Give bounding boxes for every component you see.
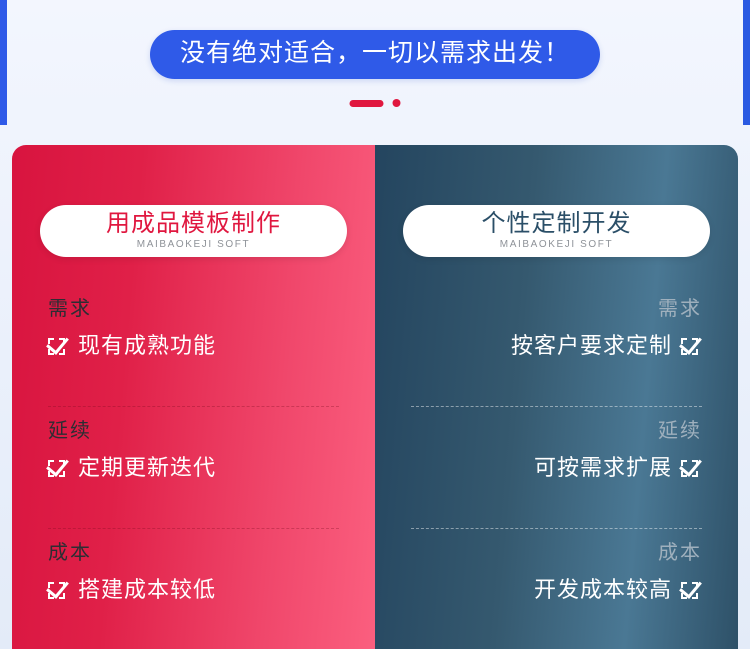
feature-main: 定期更新迭代 (48, 457, 339, 479)
card-title: 用成品模板制作 (106, 212, 281, 236)
pagination-dot-active[interactable] (350, 100, 384, 107)
comparison-cards: 用成品模板制作 MAIBAOKEJI SOFT 需求 现有成熟功能 延续 (12, 145, 738, 649)
feature-label: 成本 (48, 529, 339, 563)
card-feature-list: 需求 按客户要求定制 延续 可按需求扩展 (375, 285, 738, 649)
headline-text: 没有绝对适合，一切以需求出发！ (180, 41, 570, 66)
feature-main: 可按需求扩展 (411, 457, 702, 479)
feature-label: 需求 (411, 285, 702, 319)
list-item: 成本 开发成本较高 (375, 529, 738, 649)
card-title: 个性定制开发 (482, 212, 632, 236)
list-item: 成本 搭建成本较低 (12, 529, 375, 649)
headline-pill: 没有绝对适合，一切以需求出发！ (150, 30, 600, 79)
checkbox-dashed-icon (48, 580, 69, 601)
carousel-pagination[interactable] (350, 99, 401, 107)
header-banner-area: 没有绝对适合，一切以需求出发！ (0, 0, 750, 125)
feature-text: 搭建成本较低 (78, 579, 216, 601)
feature-main: 开发成本较高 (411, 579, 702, 601)
feature-main: 搭建成本较低 (48, 579, 339, 601)
pagination-dot-inactive[interactable] (393, 99, 401, 107)
feature-label: 延续 (48, 407, 339, 441)
card-feature-list: 需求 现有成熟功能 延续 定期更新迭代 (12, 285, 375, 649)
card-custom-development: 个性定制开发 MAIBAOKEJI SOFT 需求 按客户要求定制 延续 可按需… (375, 145, 738, 649)
feature-label: 成本 (411, 529, 702, 563)
feature-label: 需求 (48, 285, 339, 319)
card-subtitle: MAIBAOKEJI SOFT (500, 240, 613, 250)
card-subtitle: MAIBAOKEJI SOFT (137, 240, 250, 250)
checkbox-dashed-icon (681, 458, 702, 479)
checkbox-dashed-icon (681, 336, 702, 357)
feature-main: 按客户要求定制 (411, 335, 702, 357)
checkbox-dashed-icon (48, 336, 69, 357)
feature-text: 现有成熟功能 (78, 335, 216, 357)
card-header-custom-development: 个性定制开发 MAIBAOKEJI SOFT (403, 205, 710, 257)
list-item: 需求 现有成熟功能 (12, 285, 375, 407)
feature-main: 现有成熟功能 (48, 335, 339, 357)
card-template-solution: 用成品模板制作 MAIBAOKEJI SOFT 需求 现有成熟功能 延续 (12, 145, 375, 649)
checkbox-dashed-icon (681, 580, 702, 601)
feature-text: 按客户要求定制 (511, 335, 672, 357)
feature-text: 可按需求扩展 (534, 457, 672, 479)
list-item: 延续 可按需求扩展 (375, 407, 738, 529)
list-item: 需求 按客户要求定制 (375, 285, 738, 407)
checkbox-dashed-icon (48, 458, 69, 479)
card-header-template-solution: 用成品模板制作 MAIBAOKEJI SOFT (40, 205, 347, 257)
list-item: 延续 定期更新迭代 (12, 407, 375, 529)
feature-text: 定期更新迭代 (78, 457, 216, 479)
feature-label: 延续 (411, 407, 702, 441)
feature-text: 开发成本较高 (534, 579, 672, 601)
